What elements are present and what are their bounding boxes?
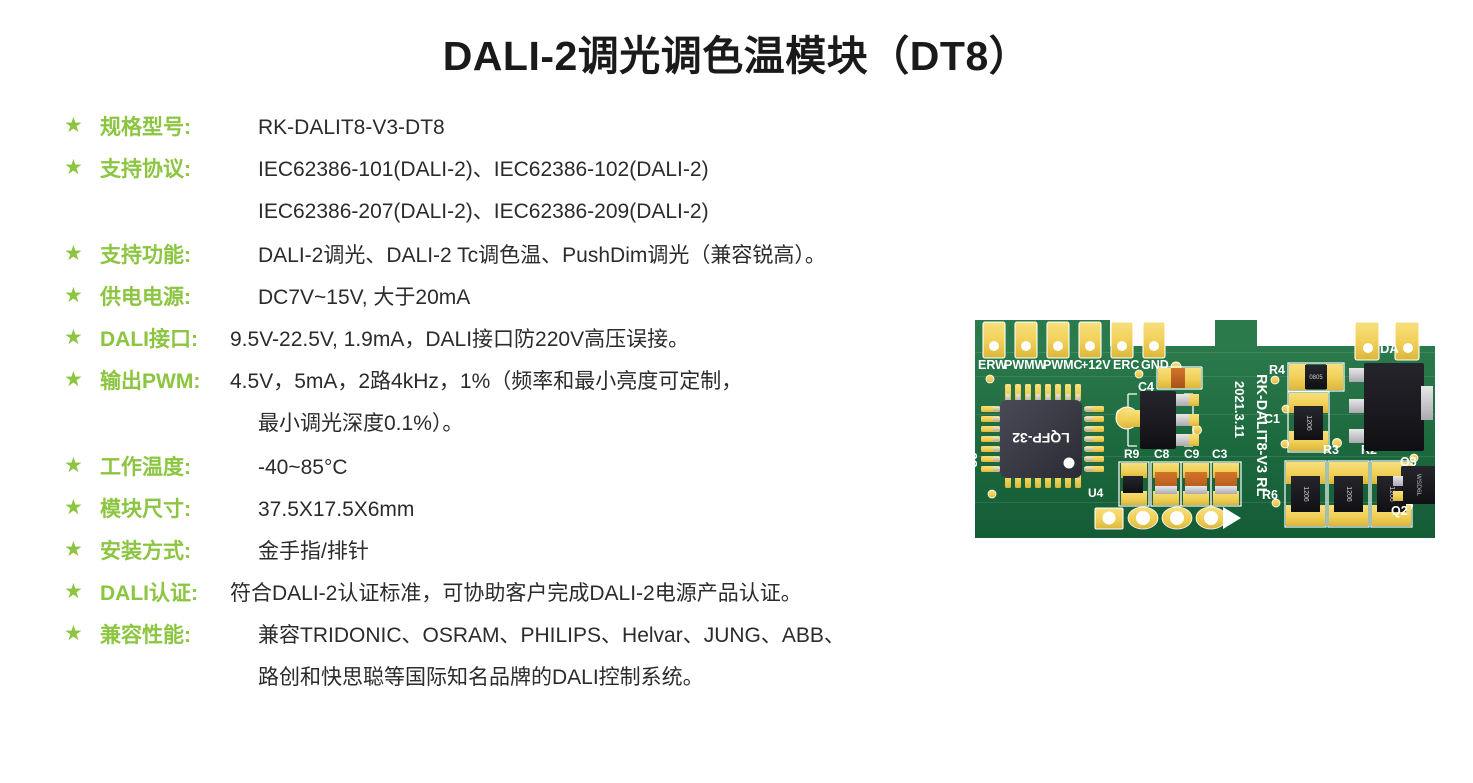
star-icon: ★ bbox=[64, 157, 83, 179]
designator-c9: C9 bbox=[1184, 447, 1200, 461]
bullet-star-cell: ★ bbox=[64, 620, 100, 645]
spec-row-model: ★ 规格型号: RK-DALIT8-V3-DT8 bbox=[64, 112, 1024, 152]
spec-row-pwm-output: ★ 输出PWM: 4.5V，5mA，2路4kHz，1%（频率和最小亮度可定制， bbox=[64, 366, 1024, 406]
spec-label: 模块尺寸: bbox=[100, 494, 258, 525]
spec-row-compatibility: ★ 兼容性能: 兼容TRIDONIC、OSRAM、PHILIPS、Helvar、… bbox=[64, 620, 1024, 660]
resistor-code-1206-r6: 1206 bbox=[1302, 486, 1309, 502]
star-icon: ★ bbox=[64, 455, 83, 477]
resistor-code-0805: 0805 bbox=[1309, 375, 1323, 381]
spec-row-dali-certification: ★ DALI认证: 符合DALI-2认证标准，可协助客户完成DALI-2电源产品… bbox=[64, 578, 1024, 618]
spec-label: 兼容性能: bbox=[100, 620, 258, 651]
spec-label: 规格型号: bbox=[100, 112, 258, 143]
star-icon: ★ bbox=[64, 327, 83, 349]
designator-c8: C8 bbox=[1154, 447, 1170, 461]
designator-q2: Q2 bbox=[1391, 504, 1408, 518]
pin-label-12v: +12V bbox=[1081, 358, 1111, 372]
bullet-star-cell: ★ bbox=[64, 494, 100, 519]
spec-row-dali-interface: ★ DALI接口: 9.5V-22.5V, 1.9mA，DALI接口防220V高… bbox=[64, 324, 1024, 364]
spec-value-continued: IEC62386-207(DALI-2)、IEC62386-209(DALI-2… bbox=[258, 196, 1024, 227]
bullet-star-cell: ★ bbox=[64, 452, 100, 477]
spec-row-protocols: ★ 支持协议: IEC62386-101(DALI-2)、IEC62386-10… bbox=[64, 154, 1024, 194]
designator-u4: U4 bbox=[1088, 486, 1104, 500]
pin-label-pwmc: PWMC bbox=[1043, 358, 1083, 372]
designator-r9: R9 bbox=[1124, 447, 1140, 461]
bullet-star-cell: ★ bbox=[64, 324, 100, 349]
star-icon: ★ bbox=[64, 539, 83, 561]
designator-c1: C1 bbox=[1264, 412, 1280, 426]
spec-label: 安装方式: bbox=[100, 536, 258, 567]
spec-row-compatibility-line2: 路创和快思聪等国际知名品牌的DALI控制系统。 bbox=[64, 662, 1024, 704]
star-icon: ★ bbox=[64, 285, 83, 307]
pin-label-erc: ERC bbox=[1113, 358, 1139, 372]
spec-row-functions: ★ 支持功能: DALI-2调光、DALI-2 Tc调色温、PushDim调光（… bbox=[64, 240, 1024, 280]
spec-value: 金手指/排针 bbox=[258, 536, 1024, 567]
specification-list: ★ 规格型号: RK-DALIT8-V3-DT8 ★ 支持协议: IEC6238… bbox=[64, 112, 1024, 706]
spec-value: 37.5X17.5X6mm bbox=[258, 494, 1024, 525]
mcu-marking-label: LQFP-32 bbox=[1012, 430, 1070, 446]
designator-r3: R3 bbox=[1323, 443, 1339, 457]
spec-row-operating-temperature: ★ 工作温度: -40~85°C bbox=[64, 452, 1024, 492]
spec-label: 供电电源: bbox=[100, 282, 258, 313]
spec-label: DALI接口: bbox=[100, 324, 230, 355]
spec-row-mounting: ★ 安装方式: 金手指/排针 bbox=[64, 536, 1024, 576]
star-icon: ★ bbox=[64, 369, 83, 391]
star-icon: ★ bbox=[64, 581, 83, 603]
bullet-star-cell: ★ bbox=[64, 112, 100, 137]
spec-label: 支持功能: bbox=[100, 240, 258, 271]
star-icon: ★ bbox=[64, 243, 83, 265]
spec-label: 工作温度: bbox=[100, 452, 258, 483]
star-icon: ★ bbox=[64, 115, 83, 137]
resistor-code-1206-r3: 1206 bbox=[1345, 486, 1352, 502]
designator-r6: R6 bbox=[1262, 488, 1278, 502]
pad-label-da: DA bbox=[1380, 341, 1399, 356]
spec-value: DC7V~15V, 大于20mA bbox=[258, 282, 1024, 313]
pin-label-pwmw: PWMW bbox=[1004, 358, 1047, 372]
spec-value: 兼容TRIDONIC、OSRAM、PHILIPS、Helvar、JUNG、ABB… bbox=[258, 620, 1024, 651]
spec-row-pwm-output-line2: 最小调光深度0.1%）。 bbox=[64, 408, 1024, 450]
spec-label: 支持协议: bbox=[100, 154, 258, 185]
spec-row-power-supply: ★ 供电电源: DC7V~15V, 大于20mA bbox=[64, 282, 1024, 322]
spec-value: 4.5V，5mA，2路4kHz，1%（频率和最小亮度可定制， bbox=[230, 366, 1024, 397]
spec-value: 符合DALI-2认证标准，可协助客户完成DALI-2电源产品认证。 bbox=[230, 578, 1024, 609]
spec-value-continued: 最小调光深度0.1%）。 bbox=[258, 408, 1024, 439]
spec-value: -40~85°C bbox=[258, 452, 1024, 483]
board-date-code: 2021.3.11 bbox=[1232, 381, 1247, 438]
star-icon: ★ bbox=[64, 623, 83, 645]
board-part-number: RK-DALIT8-V3 RL bbox=[1253, 374, 1269, 497]
bullet-star-cell: ★ bbox=[64, 578, 100, 603]
spec-row-dimensions: ★ 模块尺寸: 37.5X17.5X6mm bbox=[64, 494, 1024, 534]
pcb-bottom-testpads bbox=[1095, 507, 1241, 529]
resistor-code-1206-c1: 1206 bbox=[1305, 415, 1312, 431]
spec-label: 输出PWM: bbox=[100, 366, 230, 397]
pin-label-erw: ERW bbox=[978, 358, 1007, 372]
designator-u3: U3 bbox=[966, 452, 980, 468]
spec-value: IEC62386-101(DALI-2)、IEC62386-102(DALI-2… bbox=[258, 154, 1024, 185]
pcb-module-photo: ERW PWMW PWMC +12V ERC GND DA bbox=[957, 306, 1435, 538]
star-icon: ★ bbox=[64, 497, 83, 519]
spec-row-protocols-line2: IEC62386-207(DALI-2)、IEC62386-209(DALI-2… bbox=[64, 196, 1024, 238]
designator-r4: R4 bbox=[1269, 363, 1285, 377]
spec-label: DALI认证: bbox=[100, 578, 230, 609]
bullet-star-cell: ★ bbox=[64, 240, 100, 265]
spec-value: RK-DALIT8-V3-DT8 bbox=[258, 112, 1024, 143]
bullet-star-cell: ★ bbox=[64, 154, 100, 179]
bullet-star-cell: ★ bbox=[64, 366, 100, 391]
spec-value: DALI-2调光、DALI-2 Tc调色温、PushDim调光（兼容锐高）。 bbox=[258, 240, 1024, 271]
bullet-star-cell: ★ bbox=[64, 282, 100, 307]
pcb-dali-pads: DA bbox=[1355, 322, 1419, 360]
bullet-star-cell: ★ bbox=[64, 536, 100, 561]
designator-c3: C3 bbox=[1212, 447, 1228, 461]
spec-value-continued: 路创和快思聪等国际知名品牌的DALI控制系统。 bbox=[258, 662, 1024, 693]
page-title: DALI-2调光调色温模块（DT8） bbox=[0, 22, 1473, 82]
spec-value: 9.5V-22.5V, 1.9mA，DALI接口防220V高压误接。 bbox=[230, 324, 1024, 355]
svg-text:WSD6L: WSD6L bbox=[1415, 474, 1422, 497]
